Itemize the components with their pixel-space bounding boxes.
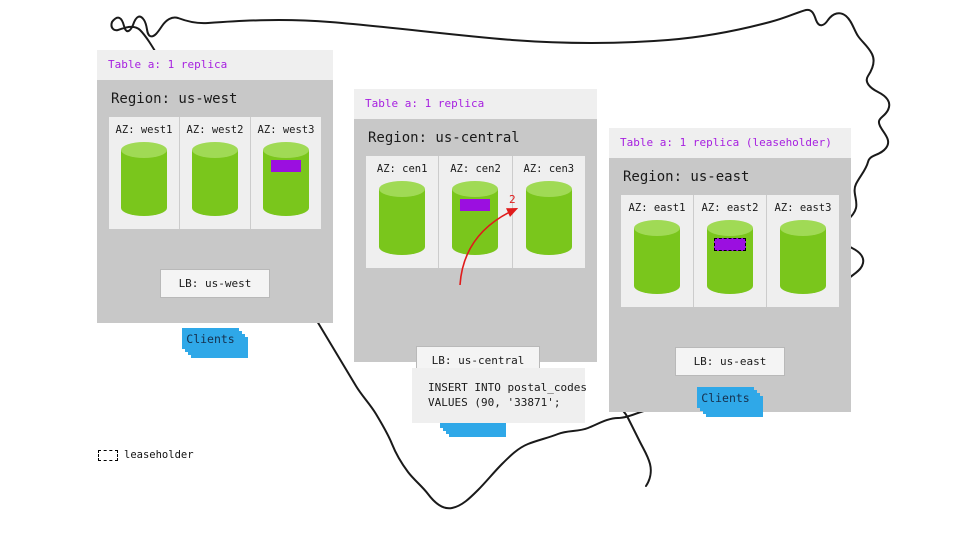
clients-us-west[interactable]: Clients [182, 328, 248, 358]
cylinder-body [634, 228, 680, 286]
az-cell-cen1[interactable]: AZ: cen1 [366, 156, 439, 268]
clients-us-east[interactable]: Clients [697, 387, 763, 417]
range-replica-band-cen2 [460, 199, 490, 211]
replica-cylinder-west1[interactable] [121, 142, 167, 216]
clients-button-label[interactable]: Clients [182, 328, 239, 349]
az-cell-cen2[interactable]: AZ: cen2 [439, 156, 512, 268]
cylinder-body [526, 189, 572, 247]
az-cell-west1[interactable]: AZ: west1 [109, 117, 180, 229]
diagram-canvas: Table a: 1 replica Region: us-west AZ: w… [0, 0, 960, 540]
load-balancer-us-west[interactable]: LB: us-west [160, 269, 270, 298]
legend-label: leaseholder [124, 449, 194, 461]
az-cell-east1[interactable]: AZ: east1 [621, 195, 694, 307]
replica-cylinder-west3[interactable] [263, 142, 309, 216]
az-cell-west2[interactable]: AZ: west2 [180, 117, 251, 229]
cylinder-top [780, 220, 826, 236]
region-title-us-west: Region: us-west [97, 80, 333, 117]
cylinder-body [121, 150, 167, 208]
cylinder-body [452, 189, 498, 247]
range-replica-band-west3 [271, 160, 301, 172]
panel-body-us-central: Region: us-central AZ: cen1 AZ: cen2 [354, 119, 597, 362]
panel-header-us-east: Table a: 1 replica (leaseholder) [609, 128, 851, 158]
cylinder-top [379, 181, 425, 197]
az-label-east2: AZ: east2 [694, 202, 766, 214]
replica-cylinder-east1[interactable] [634, 220, 680, 294]
legend-leaseholder: leaseholder [98, 449, 194, 461]
az-label-cen3: AZ: cen3 [513, 163, 585, 175]
cylinder-top [634, 220, 680, 236]
az-label-east3: AZ: east3 [767, 202, 839, 214]
replica-cylinder-cen1[interactable] [379, 181, 425, 255]
leaseholder-swatch-icon [98, 450, 118, 461]
panel-header-us-west: Table a: 1 replica [97, 50, 333, 80]
az-label-west3: AZ: west3 [251, 124, 321, 136]
az-cell-east3[interactable]: AZ: east3 [767, 195, 839, 307]
cylinder-body [707, 228, 753, 286]
routing-arrow-label: 2 [509, 193, 516, 206]
az-cell-west3[interactable]: AZ: west3 [251, 117, 321, 229]
range-leaseholder-band-east2 [714, 238, 746, 251]
region-title-us-east: Region: us-east [609, 158, 851, 195]
region-panel-us-east: Table a: 1 replica (leaseholder) Region:… [609, 128, 851, 412]
cylinder-body [192, 150, 238, 208]
cylinder-top [263, 142, 309, 158]
replica-cylinder-cen2[interactable] [452, 181, 498, 255]
panel-header-us-central: Table a: 1 replica [354, 89, 597, 119]
clients-button-label[interactable]: Clients [697, 387, 754, 408]
az-cell-cen3[interactable]: AZ: cen3 [513, 156, 585, 268]
az-label-east1: AZ: east1 [621, 202, 693, 214]
az-row-us-west: AZ: west1 AZ: west2 AZ [109, 117, 321, 229]
cylinder-top [707, 220, 753, 236]
cylinder-body [379, 189, 425, 247]
az-row-us-central: AZ: cen1 AZ: cen2 [366, 156, 585, 268]
az-row-us-east: AZ: east1 AZ: east2 [621, 195, 839, 307]
az-label-west1: AZ: west1 [109, 124, 179, 136]
az-label-cen1: AZ: cen1 [366, 163, 438, 175]
cylinder-top [121, 142, 167, 158]
az-label-cen2: AZ: cen2 [439, 163, 511, 175]
region-panel-us-west: Table a: 1 replica Region: us-west AZ: w… [97, 50, 333, 323]
replica-cylinder-cen3[interactable] [526, 181, 572, 255]
load-balancer-us-east[interactable]: LB: us-east [675, 347, 785, 376]
cylinder-top [192, 142, 238, 158]
region-panel-us-central: Table a: 1 replica Region: us-central AZ… [354, 89, 597, 362]
az-label-west2: AZ: west2 [180, 124, 250, 136]
replica-cylinder-east3[interactable] [780, 220, 826, 294]
cylinder-body [780, 228, 826, 286]
replica-cylinder-west2[interactable] [192, 142, 238, 216]
region-title-us-central: Region: us-central [354, 119, 597, 156]
sql-statement-box: INSERT INTO postal_codes VALUES (90, '33… [412, 368, 585, 423]
cylinder-body [263, 150, 309, 208]
az-cell-east2[interactable]: AZ: east2 [694, 195, 767, 307]
replica-cylinder-east2[interactable] [707, 220, 753, 294]
cylinder-top [526, 181, 572, 197]
